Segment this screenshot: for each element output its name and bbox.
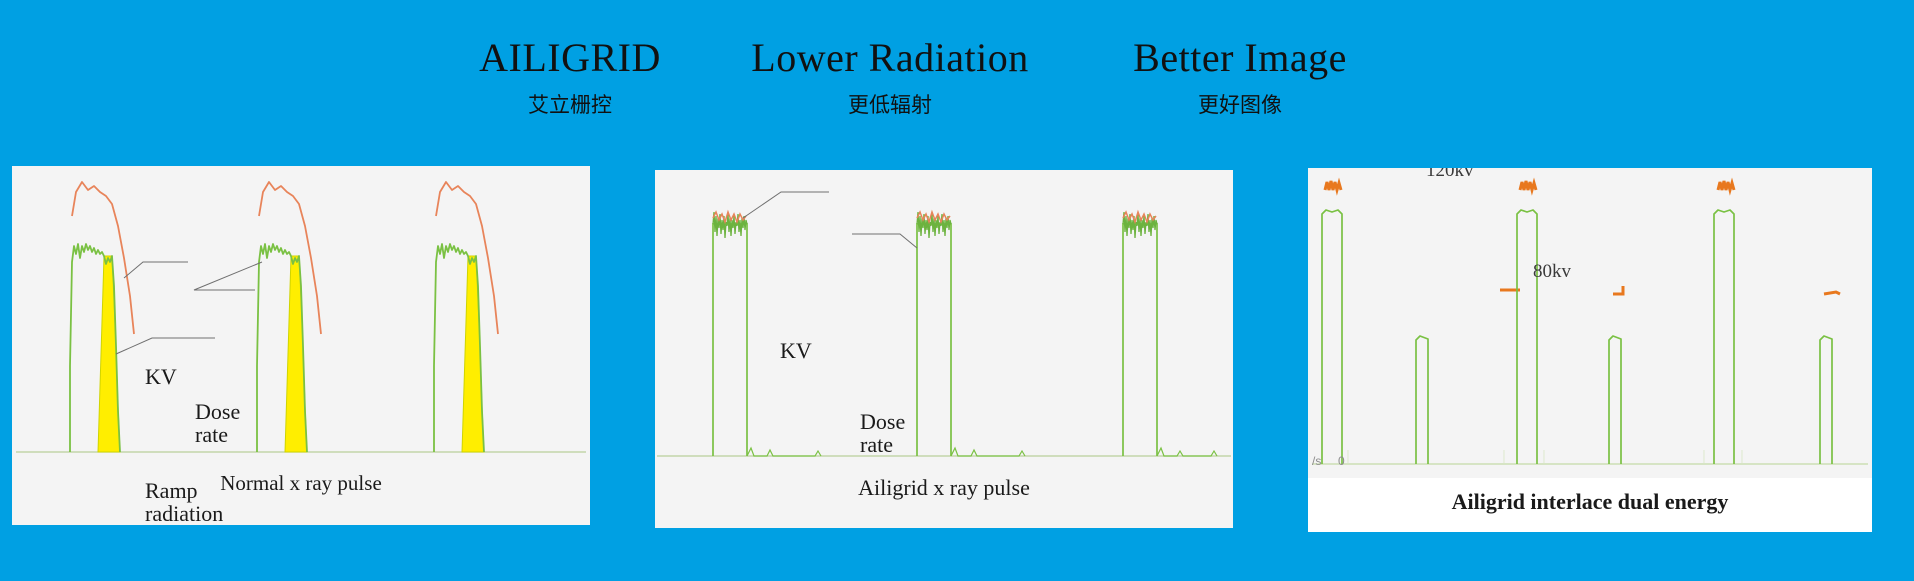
annotation-kv: KV — [145, 366, 177, 388]
header-column-1: AILIGRID 艾立栅控 — [420, 38, 720, 116]
header-banner: AILIGRID 艾立栅控 Lower Radiation 更低辐射 Bette… — [0, 0, 1914, 150]
header-column-2: Lower Radiation 更低辐射 — [700, 38, 1080, 116]
plot-grid-lines — [1348, 450, 1742, 464]
annotation-dose-rate: Dose rate — [860, 410, 905, 456]
dose-rate-callout-leader — [852, 234, 917, 248]
axis-unit-label: /s — [1312, 454, 1321, 468]
annotation-kv-text: KV — [780, 340, 812, 362]
annotation-dose-rate-line2: rate — [860, 433, 905, 456]
low-energy-marker-2 — [1613, 286, 1623, 294]
high-energy-marker-2 — [1520, 181, 1536, 190]
panel-caption-ailigrid-pulse: Ailigrid x ray pulse — [655, 475, 1233, 501]
header-title-cn-3: 更好图像 — [1075, 95, 1405, 116]
panel-caption-dual-energy: Ailigrid interlace dual energy — [1308, 483, 1872, 532]
legend-label-low-energy: 80kv — [1533, 262, 1571, 281]
dual-energy-pulse-short-2 — [1609, 336, 1621, 464]
annotation-dose-rate-line2: rate — [195, 423, 240, 446]
axis-zero-label: 0 — [1338, 454, 1345, 468]
dose-rate-square-pulse-2 — [917, 224, 951, 456]
chart-panel-ailigrid-pulse: KV Dose rate Ailigrid x ray pulse — [655, 170, 1233, 528]
header-column-3: Better Image 更好图像 — [1075, 38, 1405, 116]
normal-pulse-plot — [12, 166, 590, 466]
dose-rate-callout-leader — [194, 262, 262, 290]
baseline-ripple-2 — [951, 448, 1025, 456]
dose-rate-square-pulse-3 — [1123, 224, 1157, 456]
annotation-dose-rate: Dose rate — [195, 400, 240, 446]
low-energy-marker-3 — [1824, 292, 1840, 294]
dose-rate-square-pulse-1 — [713, 224, 747, 456]
dual-energy-pulse-short-1 — [1416, 336, 1428, 464]
chart-panel-dual-energy: /s 0 120kv 80kv Ailigrid interlace dual … — [1308, 168, 1872, 532]
dual-energy-pulse-tall-2 — [1517, 210, 1537, 464]
legend-label-high-energy: 120kv — [1426, 168, 1474, 180]
annotation-kv-text: KV — [145, 366, 177, 388]
annotation-dose-rate-line1: Dose — [195, 400, 240, 423]
header-title-en-1: AILIGRID — [420, 38, 720, 78]
annotation-dose-rate-line1: Dose — [860, 410, 905, 433]
dual-energy-plot — [1308, 168, 1872, 478]
header-title-cn-2: 更低辐射 — [700, 95, 1080, 116]
header-title-en-2: Lower Radiation — [700, 38, 1080, 78]
annotation-ramp-radiation-line2: radiation — [145, 502, 223, 525]
panel-caption-normal-pulse: Normal x ray pulse — [12, 471, 590, 496]
high-energy-legend-icon — [1325, 181, 1341, 190]
baseline-ripple-3 — [1157, 448, 1217, 456]
header-title-en-3: Better Image — [1075, 38, 1405, 78]
baseline-ripple-1 — [747, 448, 821, 456]
kv-callout-leader — [124, 262, 188, 278]
chart-panel-normal-pulse: KV Dose rate Ramp radiation Normal x ray… — [12, 166, 590, 525]
kv-callout-leader — [743, 192, 829, 218]
dual-energy-pulse-tall-3 — [1714, 210, 1734, 464]
annotation-kv: KV — [780, 340, 812, 362]
high-energy-marker-3 — [1718, 181, 1734, 190]
dual-energy-pulse-tall-1 — [1322, 210, 1342, 464]
ailigrid-pulse-plot — [655, 170, 1233, 470]
dual-energy-pulse-short-3 — [1820, 336, 1832, 464]
ramp-radiation-callout-leader — [116, 338, 215, 354]
header-title-cn-1: 艾立栅控 — [420, 95, 720, 116]
